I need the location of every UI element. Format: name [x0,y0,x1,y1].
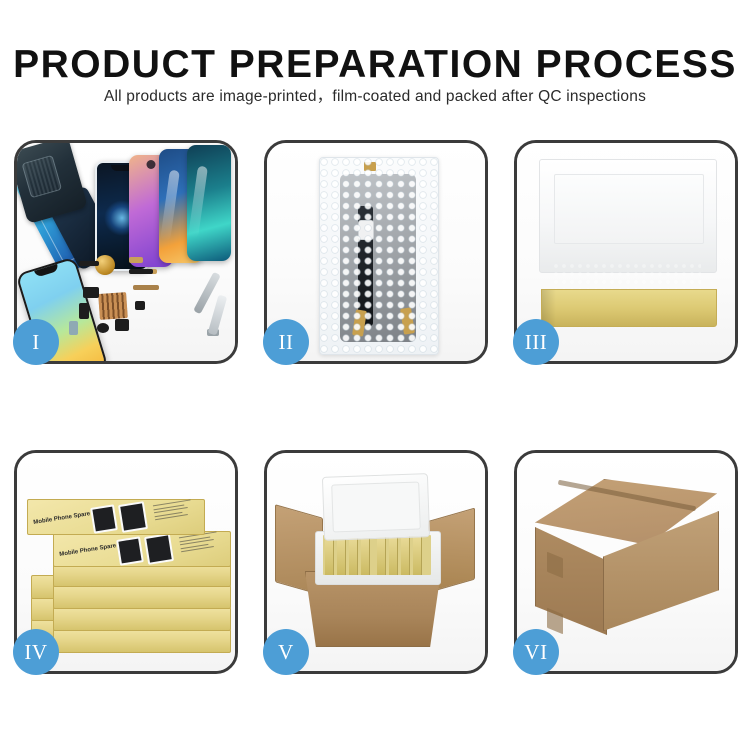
labelled-box: Mobile Phone Spare Parts [27,499,205,535]
stacked-box [53,607,231,631]
step-badge: I [13,319,59,365]
step-badge: IV [13,629,59,675]
box-window-image [118,501,148,533]
small-part-icon [135,301,145,310]
screwdriver-icon [208,295,228,336]
small-part-icon [97,323,109,333]
small-part-icon [69,321,78,335]
stacked-box [53,629,231,653]
box-spec-lines [153,499,197,523]
bubble-wrap-bag [319,157,439,355]
product-preparation-infographic: PRODUCT PREPARATION PROCESS All products… [0,0,750,750]
box-window-image [90,504,118,533]
process-step-4: Mobile Phone Spare Parts Mobile Phone Sp… [14,450,238,674]
labelled-box: Mobile Phone Spare Parts [53,531,231,567]
step-badge: II [263,319,309,365]
small-part-icon [129,257,143,263]
stacked-box [53,585,231,609]
small-part-icon [79,261,99,266]
box-lid-flap [554,174,704,244]
small-part-icon [79,303,89,319]
page-subtitle: All products are image-printed，film-coat… [0,88,750,107]
process-step-2: II [264,140,488,364]
process-step-3: III [514,140,738,364]
small-part-icon [115,319,129,331]
step-badge: III [513,319,559,365]
process-step-grid: I II [14,140,738,700]
yellow-inner-boxes [323,535,431,575]
page-title: PRODUCT PREPARATION PROCESS [0,45,750,84]
step-badge: VI [513,629,559,675]
process-step-6: VI [514,450,738,674]
process-step-1: I [14,140,238,364]
phone-display-teal [187,145,231,261]
flex-cable-icon [133,285,159,290]
screw-plate-icon [98,292,128,320]
box-stack: Mobile Phone Spare Parts Mobile Phone Sp… [23,473,231,659]
yellow-box-base [541,289,717,327]
box-window-image [116,536,144,565]
box-window-image [144,533,174,565]
box-lid [539,159,717,273]
small-part-icon [83,287,99,298]
step-badge: V [263,629,309,675]
process-step-5: V [264,450,488,674]
foam-box-lid [322,473,430,541]
flex-cable-icon [129,269,153,274]
bubble-texture [320,158,438,354]
